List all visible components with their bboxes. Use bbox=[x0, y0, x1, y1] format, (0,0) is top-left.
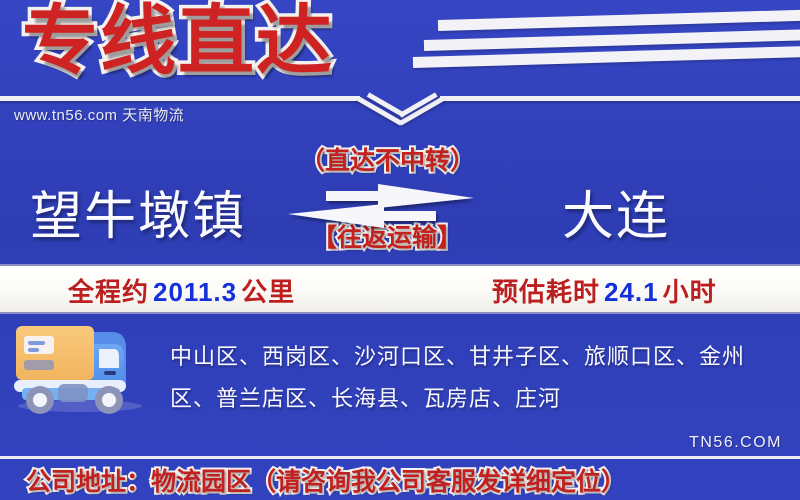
speed-stripes-icon bbox=[438, 9, 800, 31]
duration-unit: 小时 bbox=[663, 277, 717, 307]
logistics-route-banner: 专线直达 www.tn56.com 天南物流 望牛墩镇 （直达不中转） 【往返运… bbox=[0, 0, 800, 500]
coverage-areas-list: 中山区、西岗区、沙河口区、甘井子区、旅顺口区、金州区、普兰店区、长海县、瓦房店、… bbox=[170, 336, 790, 420]
destination-city-label: 大连 bbox=[562, 174, 670, 249]
site-url-label: www.tn56.com 天南物流 bbox=[14, 104, 184, 125]
page-title: 专线直达 bbox=[22, 0, 334, 87]
divider-line-right bbox=[440, 96, 800, 101]
bidirectional-arrow-icon bbox=[286, 182, 476, 235]
distance-unit: 公里 bbox=[241, 277, 295, 307]
duration-stat: 预估耗时24.1小时 bbox=[492, 272, 717, 309]
divider-line-left bbox=[0, 96, 360, 101]
origin-city-label: 望牛墩镇 bbox=[30, 174, 246, 249]
company-address-label: 公司地址：物流园区（请咨询我公司客服发详细定位） bbox=[26, 462, 626, 498]
distance-value: 2011.3 bbox=[149, 277, 241, 307]
duration-value: 24.1 bbox=[600, 277, 663, 307]
duration-label: 预估耗时 bbox=[492, 277, 600, 307]
distance-stat: 全程约2011.3公里 bbox=[68, 272, 295, 309]
distance-label: 全程约 bbox=[68, 277, 149, 307]
watermark-label: TN56.COM bbox=[689, 434, 782, 452]
footer-divider bbox=[0, 456, 800, 459]
direct-service-tag: （直达不中转） bbox=[300, 141, 475, 177]
delivery-truck-icon bbox=[8, 316, 158, 421]
